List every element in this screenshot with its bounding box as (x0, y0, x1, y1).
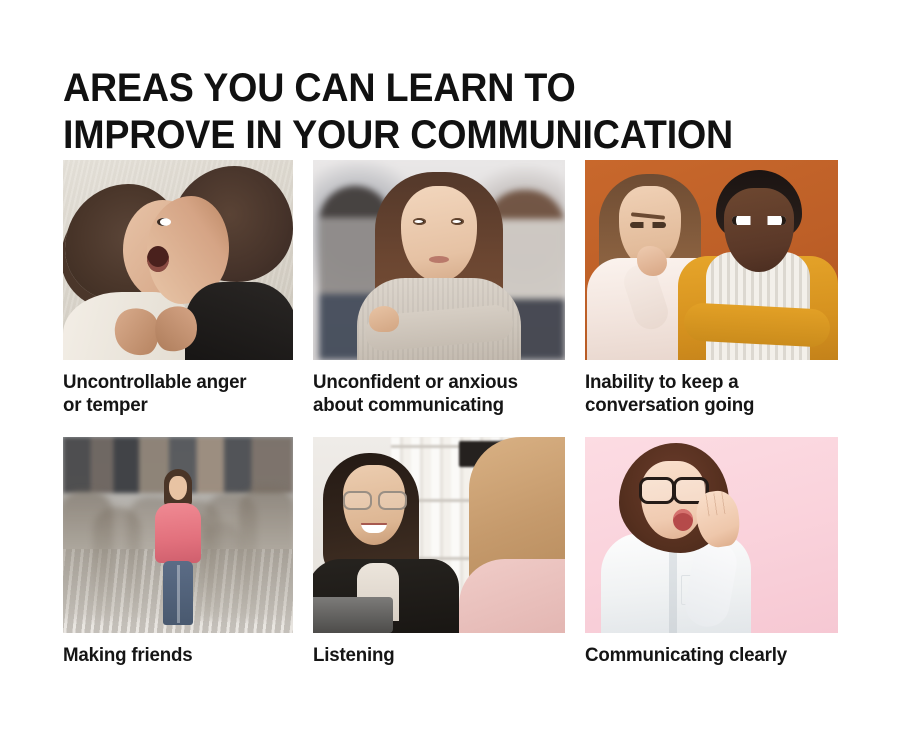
photo-unconfident-anxious (313, 160, 565, 360)
caption-communicating-clearly: Communicating clearly (585, 644, 828, 667)
woman-hand-on-chin-shape (637, 246, 667, 276)
crowd-silhouette (239, 487, 293, 619)
foreground-colleague-shoulder-shape (459, 559, 565, 633)
eyeglasses-icon (639, 477, 709, 499)
woman-calling-mouth-shape (673, 509, 693, 531)
photo-making-friends (63, 437, 293, 633)
man-folded-arms-shape (683, 302, 831, 348)
caption-uncontrollable-anger: Uncontrollable anger or temper (63, 371, 284, 417)
woman-face-shape (169, 476, 187, 500)
woman-eyes-shape (630, 222, 666, 228)
photo-uncontrollable-anger (63, 160, 293, 360)
topic-card-uncontrollable-anger[interactable]: Uncontrollable anger or temper (63, 160, 293, 417)
topic-card-communicating-clearly[interactable]: Communicating clearly (585, 437, 838, 667)
woman-lips-shape (429, 256, 449, 263)
woman-pink-sweater-shape (155, 503, 201, 563)
page-title: AREAS YOU CAN LEARN TO IMPROVE IN YOUR C… (63, 65, 815, 159)
caption-listening: Listening (313, 644, 555, 667)
photo-listening (313, 437, 565, 633)
topic-card-listening[interactable]: Listening (313, 437, 565, 667)
infographic-page: AREAS YOU CAN LEARN TO IMPROVE IN YOUR C… (0, 0, 908, 740)
man-eyes-shape (732, 216, 786, 225)
standing-woman-figure (152, 469, 204, 625)
man-torso-shape (185, 282, 293, 360)
photo-communicating-clearly (585, 437, 838, 633)
photo-inability-to-keep-conversation (585, 160, 838, 360)
caption-making-friends: Making friends (63, 644, 284, 667)
topic-card-inability-to-keep-conversation[interactable]: Inability to keep a conversation going (585, 160, 838, 417)
caption-inability-to-keep-conversation: Inability to keep a conversation going (585, 371, 828, 417)
topic-card-making-friends[interactable]: Making friends (63, 437, 293, 667)
laptop-shape (313, 597, 393, 633)
woman-right-eye-shape (451, 218, 464, 225)
caption-unconfident-anxious: Unconfident or anxious about communicati… (313, 371, 555, 417)
man-eye-shape (157, 218, 171, 226)
woman-hand-shape (369, 306, 399, 332)
topic-card-unconfident-anxious[interactable]: Unconfident or anxious about communicati… (313, 160, 565, 417)
man-shouting-mouth-shape (147, 246, 169, 272)
woman-left-eye-shape (413, 218, 426, 225)
woman-jeans-shape (163, 561, 193, 625)
eyeglasses-icon (343, 491, 407, 507)
